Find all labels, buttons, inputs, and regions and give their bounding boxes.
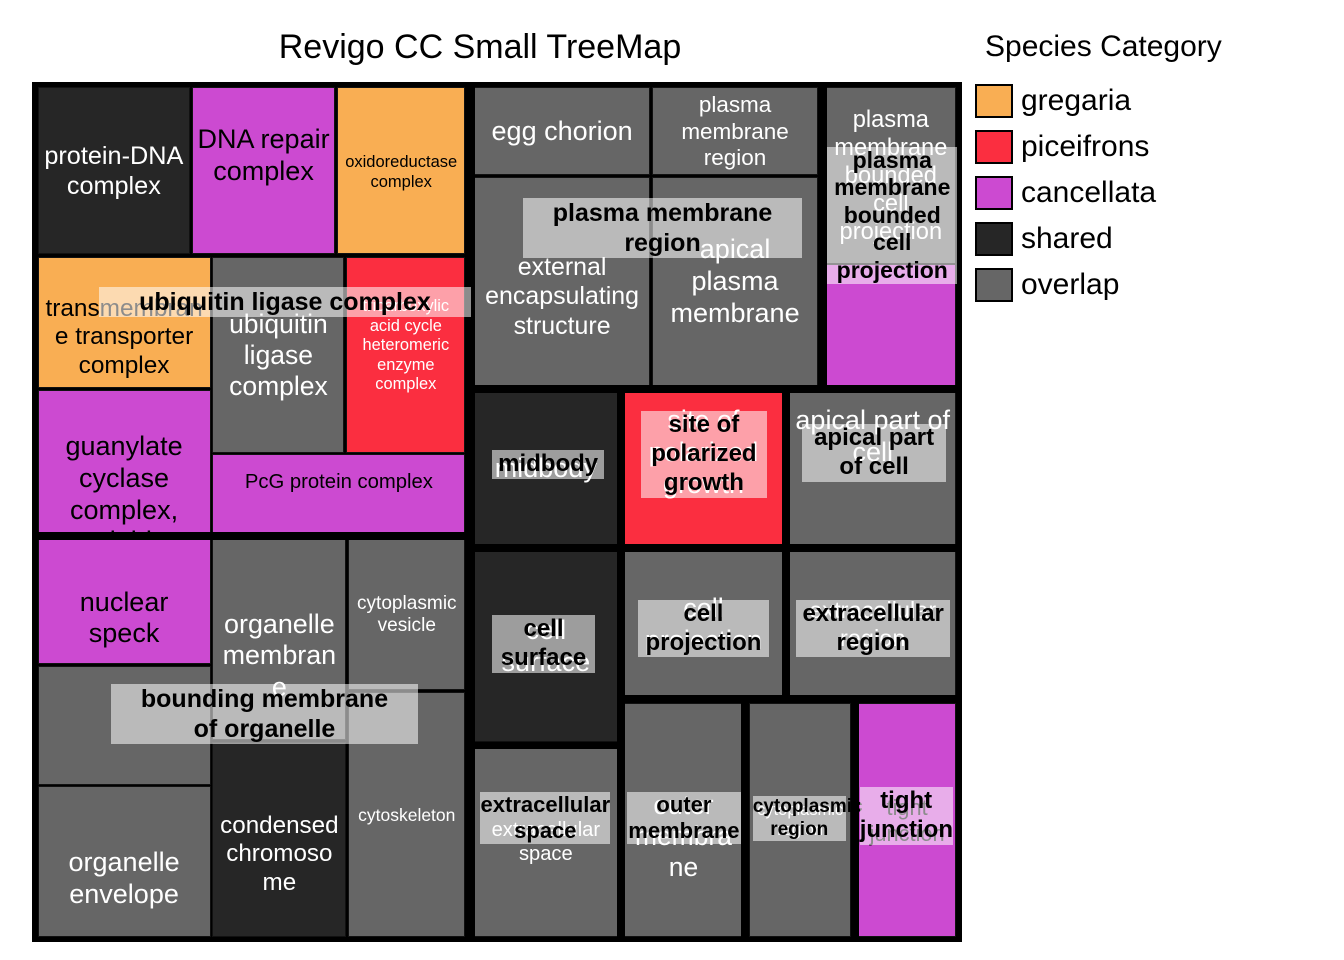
treemap-tile[interactable]: cell surface <box>474 551 618 742</box>
tile-label: organelle membrane <box>213 609 345 704</box>
tile-label: cell projection <box>625 593 781 657</box>
treemap-tile[interactable]: guanylate cyclase complex, soluble <box>38 390 211 534</box>
treemap-tile[interactable]: organelle envelope <box>38 786 211 937</box>
treemap-tile[interactable]: cell projection <box>624 551 782 697</box>
legend-item-piceifrons[interactable]: piceifrons <box>975 124 1335 170</box>
legend-item-gregaria[interactable]: gregaria <box>975 78 1335 124</box>
page-title: Revigo CC Small TreeMap <box>0 28 960 67</box>
tile-label: cytoplasmic region <box>750 801 850 840</box>
treemap-tile[interactable]: condensed chromosome <box>212 742 346 937</box>
tile-label: outer membrane <box>625 790 741 884</box>
treemap-tile[interactable]: extracellular space <box>474 748 618 937</box>
tile-label: PcG protein complex <box>213 471 464 495</box>
tile-label: plasma membrane bounded cell projection <box>826 107 955 247</box>
tile-label: tricarboxylic acid cycle heteromeric enz… <box>347 297 464 394</box>
treemap-tile[interactable]: transmembrane transporter complex <box>38 257 211 389</box>
legend-item-cancellata[interactable]: cancellata <box>975 170 1335 216</box>
tile-label: protein-DNA complex <box>39 142 190 202</box>
tile-label: guanylate cyclase complex, soluble <box>39 431 210 534</box>
tile-label: tight junction <box>859 795 956 846</box>
treemap-tile[interactable]: protein-DNA complex <box>38 87 191 254</box>
tile-label: ubiquitin ligase complex <box>213 309 343 403</box>
legend-label: cancellata <box>1021 176 1156 210</box>
tile-label: cell surface <box>475 615 617 679</box>
treemap-tile[interactable]: apical part of cell <box>789 392 956 545</box>
treemap-tile[interactable]: extracellular region <box>789 551 956 697</box>
legend-swatch-cancellata <box>975 176 1013 210</box>
treemap-tile[interactable]: nuclear speck <box>38 539 211 665</box>
treemap-tile[interactable]: site of polarized growth <box>624 392 782 545</box>
treemap-tile[interactable]: organelle membrane <box>212 539 346 740</box>
treemap-tile[interactable]: DNA repair complex <box>192 87 335 254</box>
treemap-tile[interactable]: oxidoreductase complex <box>337 87 465 254</box>
treemap-canvas: protein-DNA complexDNA repair complexoxi… <box>32 82 962 942</box>
tile-label: condensed chromosome <box>213 812 345 898</box>
treemap-tile[interactable]: external encapsulating structure <box>474 177 651 386</box>
treemap-tile[interactable]: cytoskeleton <box>348 692 465 937</box>
tile-label: external encapsulating structure <box>475 253 650 341</box>
tile-label: cytoskeleton <box>349 805 464 826</box>
tile-label: plasma membrane region <box>653 92 817 172</box>
treemap-tile[interactable] <box>38 666 211 785</box>
tile-label: oxidoreductase complex <box>338 152 464 191</box>
treemap-tile[interactable] <box>825 264 956 385</box>
tile-label: midbody <box>475 453 617 485</box>
tile-label: extracellular space <box>475 819 617 867</box>
legend-label: gregaria <box>1021 84 1131 118</box>
tile-label: cytoplasmic vesicle <box>349 593 464 638</box>
treemap-figure: Revigo CC Small TreeMap protein-DNA comp… <box>0 0 1344 960</box>
legend-swatch-overlap <box>975 268 1013 302</box>
tile-label: egg chorion <box>475 116 650 148</box>
treemap-tile[interactable]: ubiquitin ligase complex <box>212 257 344 453</box>
treemap-tile[interactable]: plasma membrane region <box>652 87 818 175</box>
legend-label: piceifrons <box>1021 130 1149 164</box>
legend-label: overlap <box>1021 268 1119 302</box>
treemap-tile[interactable]: apical plasma membrane <box>652 177 818 386</box>
treemap-tile[interactable]: egg chorion <box>474 87 651 175</box>
tile-label: site of polarized growth <box>625 405 781 501</box>
legend: Species Category gregariapiceifronscance… <box>975 30 1335 308</box>
treemap-tile[interactable]: midbody <box>474 392 618 545</box>
treemap-tile[interactable]: tricarboxylic acid cycle heteromeric enz… <box>346 257 465 453</box>
legend-item-overlap[interactable]: overlap <box>975 262 1335 308</box>
legend-swatch-gregaria <box>975 84 1013 118</box>
tile-label: DNA repair complex <box>193 124 334 188</box>
treemap-tile[interactable]: cytoplasmic vesicle <box>348 539 465 690</box>
legend-items: gregariapiceifronscancellatasharedoverla… <box>975 78 1335 308</box>
tile-label: extracellular region <box>790 597 955 653</box>
legend-swatch-piceifrons <box>975 130 1013 164</box>
treemap-tile[interactable]: PcG protein complex <box>212 454 465 533</box>
treemap-tile[interactable]: cytoplasmic region <box>749 703 851 937</box>
tile-label: nuclear speck <box>39 587 210 651</box>
legend-item-shared[interactable]: shared <box>975 216 1335 262</box>
treemap-tile[interactable]: tight junction <box>858 703 957 937</box>
legend-label: shared <box>1021 222 1113 256</box>
tile-label: organelle envelope <box>39 847 210 911</box>
treemap-tile[interactable]: plasma membrane bounded cell projection <box>825 87 956 264</box>
legend-swatch-shared <box>975 222 1013 256</box>
tile-label: apical part of cell <box>790 405 955 469</box>
tile-label: apical plasma membrane <box>653 234 817 330</box>
tile-label: transmembrane transporter complex <box>39 295 210 381</box>
treemap-tile[interactable]: outer membrane <box>624 703 742 937</box>
legend-title: Species Category <box>985 30 1335 64</box>
